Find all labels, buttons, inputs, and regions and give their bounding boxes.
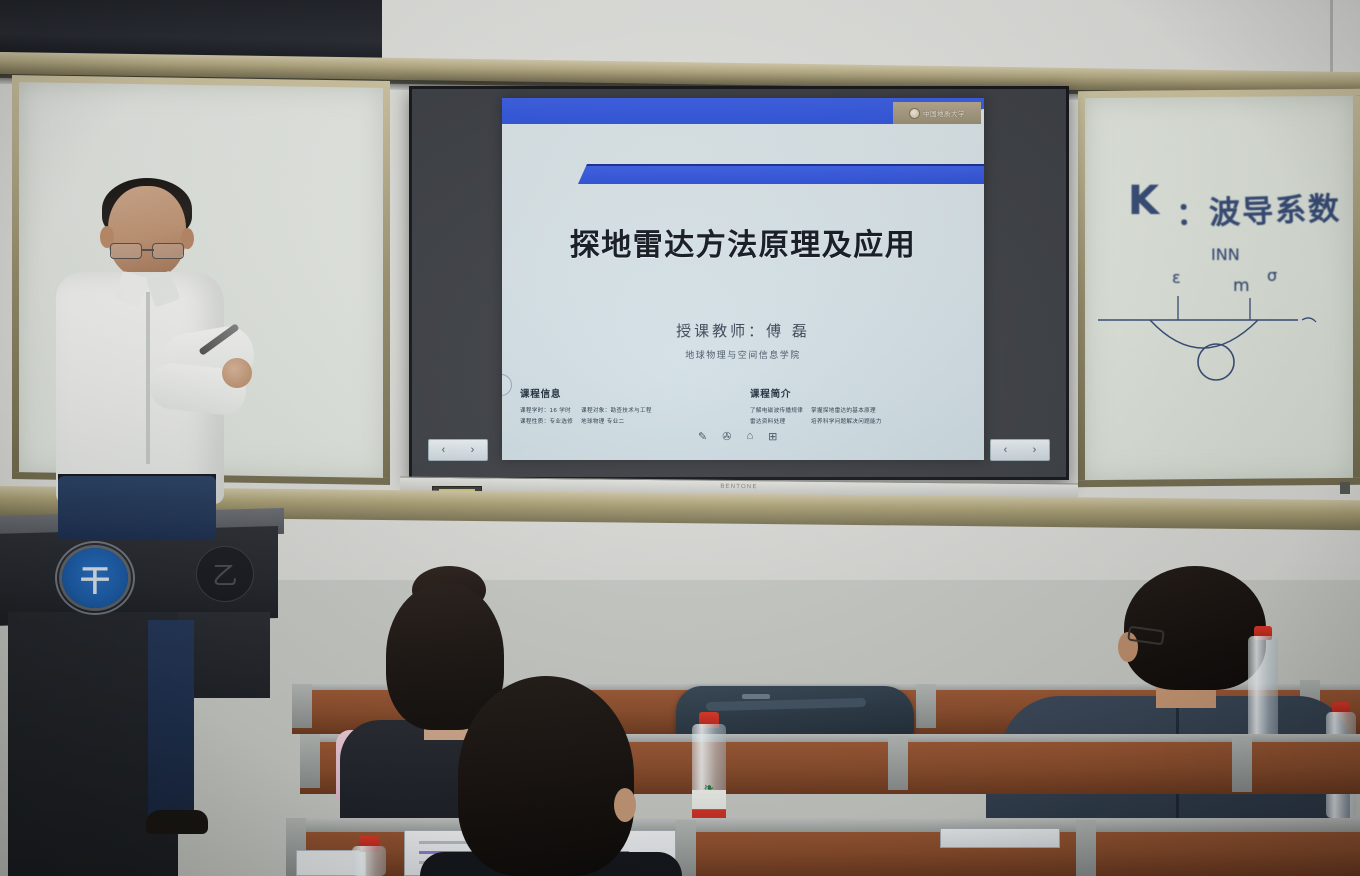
water-bottle[interactable]: [1248, 636, 1278, 746]
presenter-head: [108, 186, 186, 278]
course-summary-col-b: 掌握探地雷达的基本原理 培养科学问题解决问题能力: [811, 406, 882, 428]
whiteboard-diagram-icon: [1090, 280, 1340, 400]
whiteboard-annotation-top: INN: [1211, 245, 1240, 264]
presenter-hand: [222, 358, 252, 388]
display-panel: 中国地质大学 探地雷达方法原理及应用 授课教师：傅 磊 地球物理与空间信息学院 …: [412, 89, 1066, 477]
university-logo: 中国地质大学: [893, 102, 981, 124]
glasses-lens-left: [110, 243, 142, 259]
audience-member-front-center-ear: [614, 788, 636, 822]
bench-post: [1076, 820, 1096, 876]
nav-next-icon[interactable]: ›: [471, 445, 475, 456]
course-summary-cell: 了解电磁波传播规律: [750, 406, 803, 417]
slide-title: 探地雷达方法原理及应用: [502, 220, 984, 264]
course-info-cell: 课程学时：16 学时: [520, 406, 573, 417]
podium-secondary-logo: 乙: [196, 546, 254, 602]
chart-icon: ⊞: [768, 430, 777, 443]
ceiling-panel: [0, 0, 382, 60]
secondary-device[interactable]: [940, 828, 1060, 848]
course-info-rows: 课程学时：16 学时 课程性质：专业选修 课程对象：勘查技术与工程 地球物理 专…: [520, 406, 736, 428]
presenter-shirt-placket: [146, 292, 150, 464]
pencil-icon: ✎: [698, 430, 707, 443]
nav-next-icon[interactable]: ›: [1033, 445, 1037, 456]
bench-post: [1232, 738, 1252, 792]
audience-member-front-center-hair: [458, 676, 634, 876]
display-side-port: [1340, 482, 1350, 494]
lecture-hall-photo: K ：波导系数 INN ε m σ 中国地质大学 探地雷达方法原理及应用 授课教…: [0, 0, 1360, 876]
course-info-cell: 地球物理 专业二: [581, 417, 652, 428]
slide-info-columns: 课程信息 课程学时：16 学时 课程性质：专业选修 课程对象：勘查技术与工程 地…: [502, 386, 984, 428]
slide-department: 地球物理与空间信息学院: [502, 348, 984, 361]
university-logo-text: 中国地质大学: [923, 108, 965, 118]
course-info-cell: 课程性质：专业选修: [520, 417, 573, 428]
slide-accent-band: [578, 164, 984, 184]
whiteboard-note-text: ：波导系数: [1175, 183, 1341, 234]
backpack-logo-tag: [742, 694, 770, 699]
podium-university-emblem: 干: [62, 548, 128, 608]
course-info-col-a: 课程学时：16 学时 课程性质：专业选修: [520, 406, 573, 428]
slide-course-info-column: 课程信息 课程学时：16 学时 课程性质：专业选修 课程对象：勘查技术与工程 地…: [520, 386, 736, 428]
glasses-bridge: [142, 249, 154, 251]
slide-teacher: 授课教师：傅 磊: [502, 320, 984, 341]
glasses-lens-right: [152, 243, 184, 259]
course-summary-cell: 雷达资料处理: [750, 417, 803, 428]
course-summary-heading: 课程简介: [750, 386, 966, 400]
presenter-glasses: [108, 243, 188, 259]
water-bottle[interactable]: [352, 846, 386, 876]
book-icon: ✇: [722, 430, 731, 443]
nav-prev-icon[interactable]: ‹: [442, 445, 446, 456]
slide-icon-row: ✎ ✇ ⌂ ⊞: [698, 430, 777, 443]
nav-prev-icon[interactable]: ‹: [1004, 445, 1008, 456]
course-summary-cell: 培养科学问题解决问题能力: [811, 417, 882, 428]
display-nav-right[interactable]: ‹ ›: [990, 439, 1050, 461]
bench-post: [916, 684, 936, 728]
course-summary-cell: 掌握探地雷达的基本原理: [811, 406, 882, 417]
course-summary-col-a: 了解电磁波传播规律 雷达资料处理: [750, 406, 803, 428]
course-info-col-b: 课程对象：勘查技术与工程 地球物理 专业二: [581, 406, 652, 428]
course-info-cell: 课程对象：勘查技术与工程: [581, 406, 652, 417]
display-brand-label: BENTONE: [720, 484, 757, 490]
university-logo-mark: [909, 108, 920, 119]
display-nav-left[interactable]: ‹ ›: [428, 439, 488, 461]
course-summary-rows: 了解电磁波传播规律 雷达资料处理 掌握探地雷达的基本原理 培养科学问题解决问题能…: [750, 406, 966, 428]
course-info-heading: 课程信息: [520, 386, 736, 400]
bench-post: [292, 684, 312, 728]
bench-post: [888, 736, 908, 790]
cap-icon: ⌂: [746, 430, 753, 443]
presentation-slide: 中国地质大学 探地雷达方法原理及应用 授课教师：傅 磊 地球物理与空间信息学院 …: [502, 98, 984, 460]
presenter-leg: [148, 620, 194, 820]
slide-course-summary-column: 课程简介 了解电磁波传播规律 雷达资料处理 掌握探地雷达的基本原理 培养科学问题…: [750, 386, 966, 428]
projector-display[interactable]: 中国地质大学 探地雷达方法原理及应用 授课教师：傅 磊 地球物理与空间信息学院 …: [409, 86, 1069, 480]
bench-post: [300, 734, 320, 788]
presenter-jeans: [58, 476, 216, 540]
presenter-shoe: [146, 810, 208, 834]
whiteboard-symbol-k: K: [1128, 178, 1160, 224]
